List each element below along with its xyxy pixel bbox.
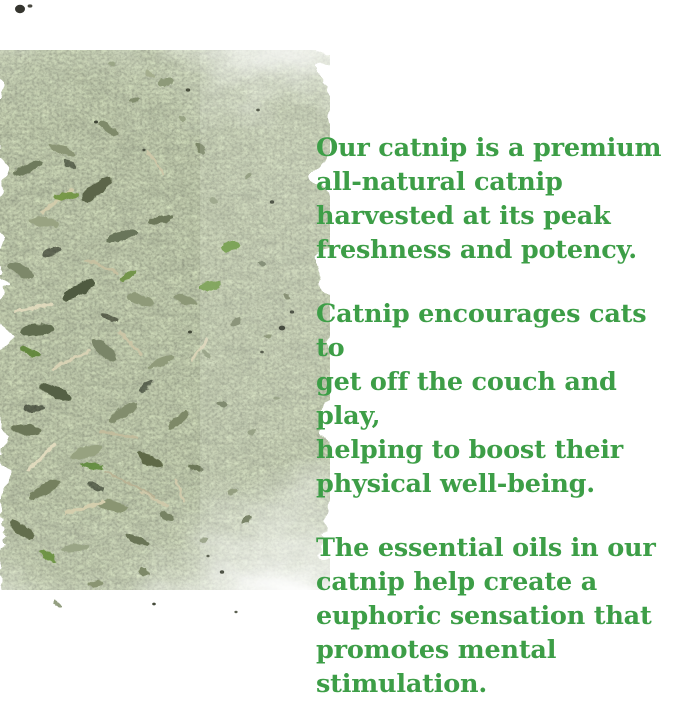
copy-paragraph-1: Our catnip is a premium all-natural catn…	[316, 131, 666, 267]
copy-paragraph-3: The essential oils in our catnip help cr…	[316, 531, 666, 701]
catnip-product-photo	[0, 0, 330, 620]
product-marketing-image: Our catnip is a premium all-natural catn…	[0, 0, 679, 701]
copy-paragraph-2: Catnip encourages cats to get off the co…	[316, 297, 666, 501]
photo-edge-veil	[200, 0, 330, 620]
marketing-copy-block: Our catnip is a premium all-natural catn…	[316, 131, 666, 701]
catnip-pile-illustration	[0, 0, 330, 620]
